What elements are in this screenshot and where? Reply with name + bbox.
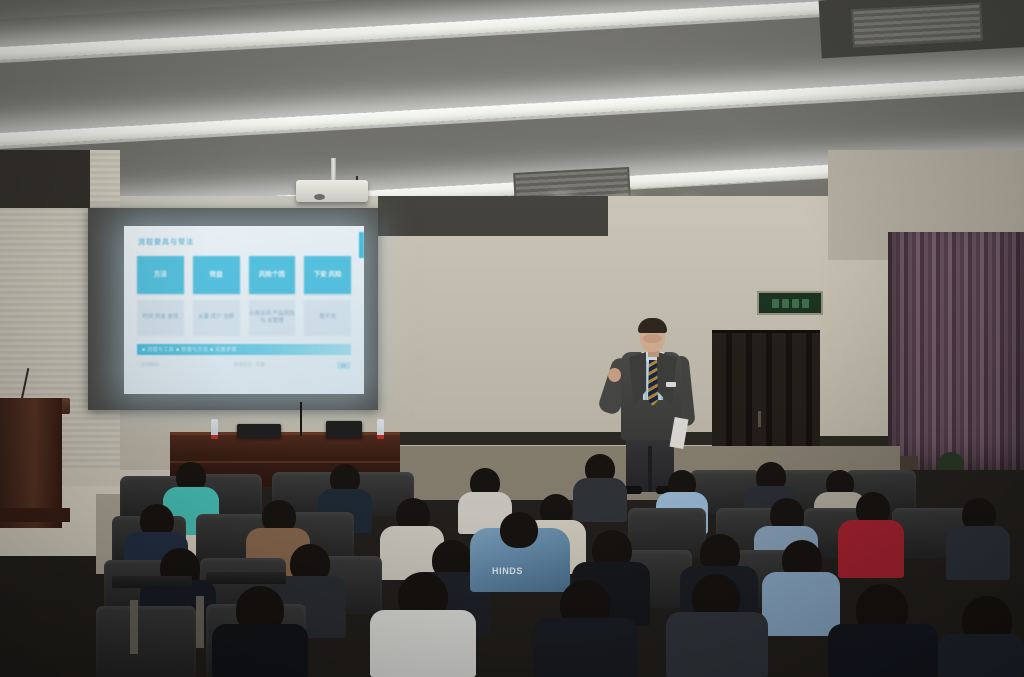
projection-screen: 流程要具与常法 方法 效益 风险个因 下安 风险 时间 资金 金钱 从量 成少 … bbox=[124, 226, 364, 394]
seat-leg bbox=[130, 600, 138, 654]
audience-body bbox=[573, 478, 627, 522]
door-handle[interactable] bbox=[758, 411, 761, 427]
ceiling-projector bbox=[296, 180, 368, 202]
laptop-right[interactable] bbox=[326, 421, 362, 438]
hoodie-text: HINDS bbox=[492, 566, 523, 576]
slide-bottom-box-row: 时间 资金 金钱 从量 成少 冶修 小商业风 产品风险与 业管理 整不充 bbox=[137, 300, 351, 336]
exit-sign-glyph bbox=[802, 299, 809, 308]
audience-body bbox=[828, 624, 938, 677]
projector-lens bbox=[314, 194, 325, 200]
seat-leg bbox=[196, 596, 204, 648]
exit-sign-glyph bbox=[782, 299, 789, 308]
audience-body bbox=[666, 612, 768, 677]
water-bottle-left bbox=[211, 419, 218, 436]
audience-body bbox=[938, 634, 1024, 677]
slide-top-box: 效益 bbox=[193, 256, 240, 294]
wall-wainscot-band bbox=[400, 432, 740, 445]
presenter-leg-gap bbox=[648, 446, 652, 492]
exit-sign-glyph bbox=[792, 299, 799, 308]
slide-bottom-box: 从量 成少 冶修 bbox=[193, 300, 240, 336]
table-trim bbox=[170, 461, 400, 463]
audience-body-red bbox=[838, 520, 904, 578]
upper-dark-band-left bbox=[0, 150, 90, 208]
writing-desk[interactable] bbox=[206, 572, 286, 584]
table-microphone bbox=[300, 402, 302, 436]
ceiling-air-vent-right bbox=[851, 3, 983, 48]
slide-footer-left: · 咨询顾问 bbox=[138, 362, 159, 369]
audience-body bbox=[762, 572, 840, 636]
slide-bottom-box: 时间 资金 金钱 bbox=[137, 300, 184, 336]
audience-body bbox=[212, 624, 308, 677]
presenter-face bbox=[643, 334, 662, 343]
presenter-necktie bbox=[648, 360, 658, 406]
audience-body-white bbox=[370, 610, 476, 677]
slide-footer-center: · 管理培训 · 实施 bbox=[231, 362, 265, 369]
slide-legend-text: ■ 流程与工具 ■ 管理与方法 ■ 实施步骤 bbox=[137, 346, 237, 353]
writing-desk[interactable] bbox=[112, 576, 192, 588]
slide-title: 流程要具与常法 bbox=[138, 237, 194, 247]
slide-footer: · 咨询顾问 · 管理培训 · 实施 12 bbox=[138, 362, 350, 369]
audience-body bbox=[946, 526, 1010, 580]
slide-top-box: 风险个因 bbox=[249, 256, 296, 294]
presenter-gesturing-hand bbox=[608, 368, 621, 382]
slide-bottom-box: 整不充 bbox=[304, 300, 351, 336]
presenter-pocket-square bbox=[666, 382, 676, 387]
slide-legend-bar: ■ 流程与工具 ■ 管理与方法 ■ 实施步骤 bbox=[137, 344, 351, 355]
audience-head bbox=[500, 512, 538, 548]
seat-row4[interactable] bbox=[96, 606, 196, 677]
water-bottle-right bbox=[377, 419, 384, 436]
podium-base bbox=[0, 508, 70, 522]
emergency-exit-sign bbox=[757, 291, 823, 315]
slide-top-box-row: 方法 效益 风险个因 下安 风险 bbox=[137, 256, 351, 294]
lecture-hall-photo: 流程要具与常法 方法 效益 风险个因 下安 风险 时间 资金 金钱 从量 成少 … bbox=[0, 0, 1024, 677]
projection-screen-frame: 流程要具与常法 方法 效益 风险个因 下安 风险 时间 资金 金钱 从量 成少 … bbox=[88, 208, 378, 410]
slide-top-box: 下安 风险 bbox=[304, 256, 351, 294]
laptop-left[interactable] bbox=[237, 424, 281, 438]
slide-top-box: 方法 bbox=[137, 256, 184, 294]
exit-sign-glyph bbox=[772, 299, 779, 308]
presenter-hair bbox=[638, 318, 667, 333]
audience-body bbox=[534, 618, 638, 677]
slide-highlight-edge bbox=[359, 232, 364, 258]
slide-page-number: 12 bbox=[337, 362, 350, 369]
slide-bottom-box: 小商业风 产品风险与 业管理 bbox=[249, 300, 296, 336]
upper-dark-band-center bbox=[378, 196, 608, 236]
